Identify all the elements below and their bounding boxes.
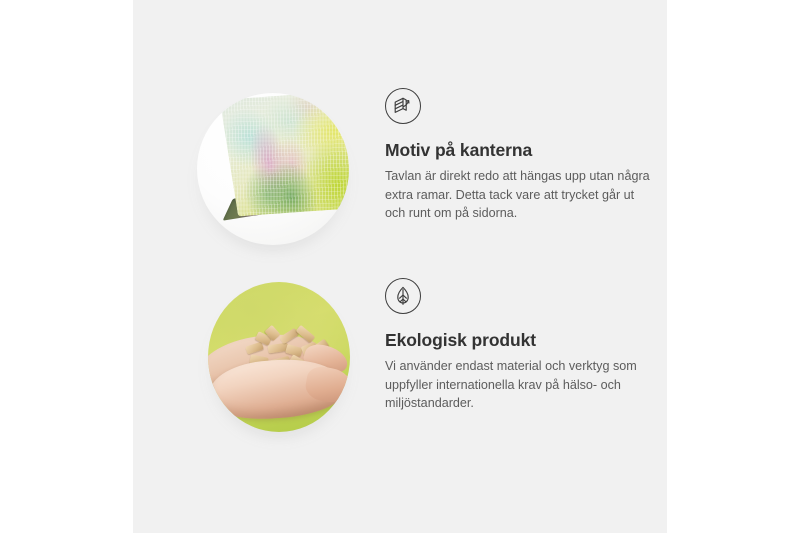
canvas-wrapped-edge-icon: [385, 88, 421, 124]
hands-holding-wood-chips-photo: [208, 282, 350, 432]
canvas-block: [223, 93, 349, 237]
feature-info-2: Ekologisk produkt Vi använder endast mat…: [385, 278, 661, 413]
feature-description: Vi använder endast material och verktyg …: [385, 357, 653, 413]
canvas-printed-face: [220, 93, 349, 216]
canvas-print-corner-photo: [197, 93, 349, 245]
product-feature-infographic: Motiv på kanterna Tavlan är direkt redo …: [0, 0, 800, 533]
feature-info-1: Motiv på kanterna Tavlan är direkt redo …: [385, 88, 661, 223]
content-panel: Motiv på kanterna Tavlan är direkt redo …: [133, 0, 667, 533]
feature-title: Motiv på kanterna: [385, 140, 661, 161]
leaf-icon: [385, 278, 421, 314]
feature-description: Tavlan är direkt redo att hängas upp uta…: [385, 167, 653, 223]
feature-title: Ekologisk produkt: [385, 330, 661, 351]
